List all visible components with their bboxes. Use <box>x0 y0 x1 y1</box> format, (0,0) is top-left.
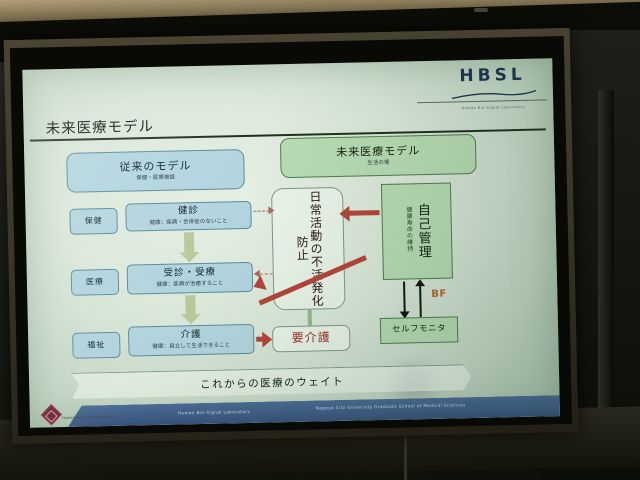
footer-left-text: Human Bio-Signal Laboratory <box>62 414 115 421</box>
footer-center-text: Human Bio-Signal Laboratory <box>178 409 251 416</box>
header-box-conventional-title: 従来のモデル <box>119 160 191 174</box>
self-management-box: 自己管理 健康寿命の維持 <box>381 182 453 280</box>
self-management-title: 自己管理 <box>414 203 430 259</box>
page-title: 未来医療モデル <box>45 115 154 138</box>
bf-arrow-up-head-icon <box>415 279 425 286</box>
presentation-slide: HBSL Human Bio-Signal Laboratory 未来医療モデル… <box>22 58 560 427</box>
bf-label: BF <box>431 289 447 300</box>
stage-box-kaigo-title: 介護 <box>181 330 202 341</box>
stage-box-kaigo: 介護 健康：自立して生活できること <box>128 324 255 357</box>
care-required-box: 要介護 <box>272 325 351 353</box>
footer-blue-band: Human Bio-Signal Laboratory Nagoya City … <box>68 395 560 427</box>
corporate-diamond-icon <box>41 404 62 425</box>
bf-arrow-down-shaft <box>403 282 406 314</box>
projection-screen-frame: HBSL Human Bio-Signal Laboratory 未来医療モデル… <box>4 28 579 444</box>
category-label-iryo: 医療 <box>71 269 120 296</box>
footer-right-text: Nagoya City University Graduate School o… <box>316 402 466 410</box>
category-label-hoken: 保健 <box>69 208 118 235</box>
red-arrow-kaigo-head-icon <box>262 331 272 347</box>
screen-inner-bezel: HBSL Human Bio-Signal Laboratory 未来医療モデル… <box>10 36 572 436</box>
self-monitor-box: セルフモニタ <box>380 316 459 344</box>
stage-box-kenshin-title: 健診 <box>178 206 199 217</box>
header-box-conventional: 従来のモデル 保健・医療施設 <box>66 149 245 193</box>
connector-center-to-care <box>308 310 312 326</box>
flow-arrow-jushin-to-kaigo <box>180 295 201 324</box>
ceiling-fixture <box>474 8 488 12</box>
header-box-future-title: 未来医療モデル <box>336 145 420 159</box>
stage-box-kenshin: 健診 健康：疾病・合併症のないこと <box>125 201 252 232</box>
red-arrow-jushin-to-selfmanage-head-icon <box>250 275 266 294</box>
red-arrow-selfmanage-head-icon <box>339 206 349 222</box>
connector-kenshin-to-center <box>253 210 269 211</box>
header-box-future-subtitle: 生活の場 <box>367 160 390 167</box>
category-label-fukushi: 福祉 <box>72 332 121 359</box>
self-monitor-label: セルフモニタ <box>392 325 446 336</box>
stage-box-kenshin-subtitle: 健康：疾病・合併症のないこと <box>149 219 227 227</box>
header-box-conventional-subtitle: 保健・医療施設 <box>136 175 175 182</box>
hbsl-logo-text: HBSL <box>448 65 536 87</box>
bf-arrow-up-shaft <box>419 285 422 317</box>
stage-box-jushin-subtitle: 健康：疾病が治癒すること <box>156 281 223 289</box>
stage-box-kaigo-subtitle: 健康：自立して生活できること <box>152 343 230 351</box>
red-arrow-selfmanage-to-center <box>347 210 379 216</box>
flow-arrow-kenshin-to-jushin <box>179 232 200 262</box>
connector-kenshin-arrowhead-icon <box>268 206 274 214</box>
photograph-of-projected-slide: HBSL Human Bio-Signal Laboratory 未来医療モデル… <box>0 0 640 480</box>
stage-box-jushin-title: 受診・受療 <box>163 268 216 280</box>
stage-box-jushin: 受診・受療 健康：疾病が治癒すること <box>127 262 254 295</box>
hbsl-logo: HBSL Human Bio-Signal Laboratory <box>448 65 537 111</box>
hbsl-logo-subtitle: Human Bio-Signal Laboratory <box>449 105 537 111</box>
door-edge <box>598 90 614 420</box>
center-box-prevention-title: 日常活動の不活発化防止 <box>293 188 323 309</box>
self-management-subtitle: 健康寿命の維持 <box>404 206 412 252</box>
stand-pole <box>404 434 407 480</box>
care-required-label: 要介護 <box>292 331 331 346</box>
header-box-future: 未来医療モデル 生活の場 <box>280 134 477 178</box>
